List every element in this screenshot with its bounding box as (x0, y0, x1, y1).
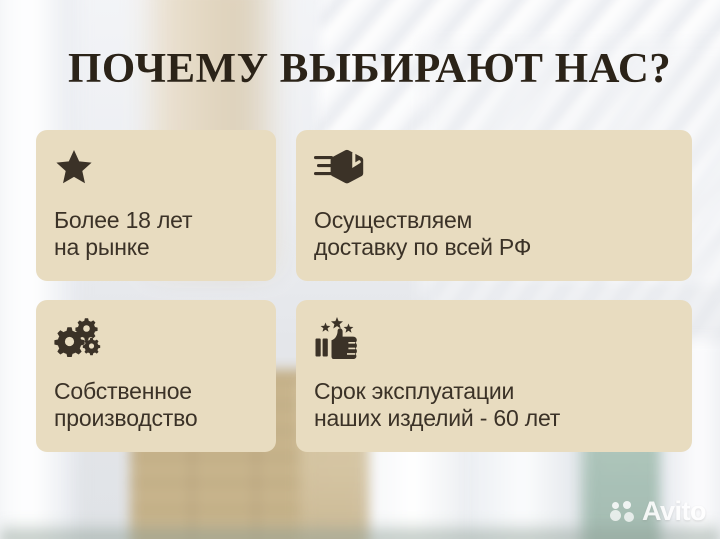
benefit-card-text: Более 18 лет на рынке (54, 207, 258, 261)
benefit-card-service-life: Срок эксплуатации наших изделий - 60 лет (296, 300, 692, 452)
gears-icon (54, 317, 258, 361)
benefit-card-own-production: Собственное производство (36, 300, 276, 452)
avito-watermark: Avito (610, 498, 706, 525)
fast-delivery-box-icon (314, 147, 674, 191)
thumbs-up-stars-icon (314, 317, 674, 361)
star-icon (54, 147, 258, 191)
benefit-card-text: Осуществляем доставку по всей РФ (314, 207, 674, 261)
benefit-card-delivery: Осуществляем доставку по всей РФ (296, 130, 692, 281)
page-title: ПОЧЕМУ ВЫБИРАЮТ НАС? (68, 48, 671, 90)
avito-wordmark: Avito (642, 498, 706, 525)
benefit-card-text: Собственное производство (54, 378, 258, 432)
avito-logo-icon (610, 501, 636, 523)
promo-poster: ПОЧЕМУ ВЫБИРАЮТ НАС? Более 18 лет на рын… (0, 0, 720, 539)
benefits-grid: Более 18 лет на рынке Осуществляем доста… (36, 130, 692, 452)
benefit-card-text: Срок эксплуатации наших изделий - 60 лет (314, 378, 674, 432)
benefit-card-years-on-market: Более 18 лет на рынке (36, 130, 276, 281)
